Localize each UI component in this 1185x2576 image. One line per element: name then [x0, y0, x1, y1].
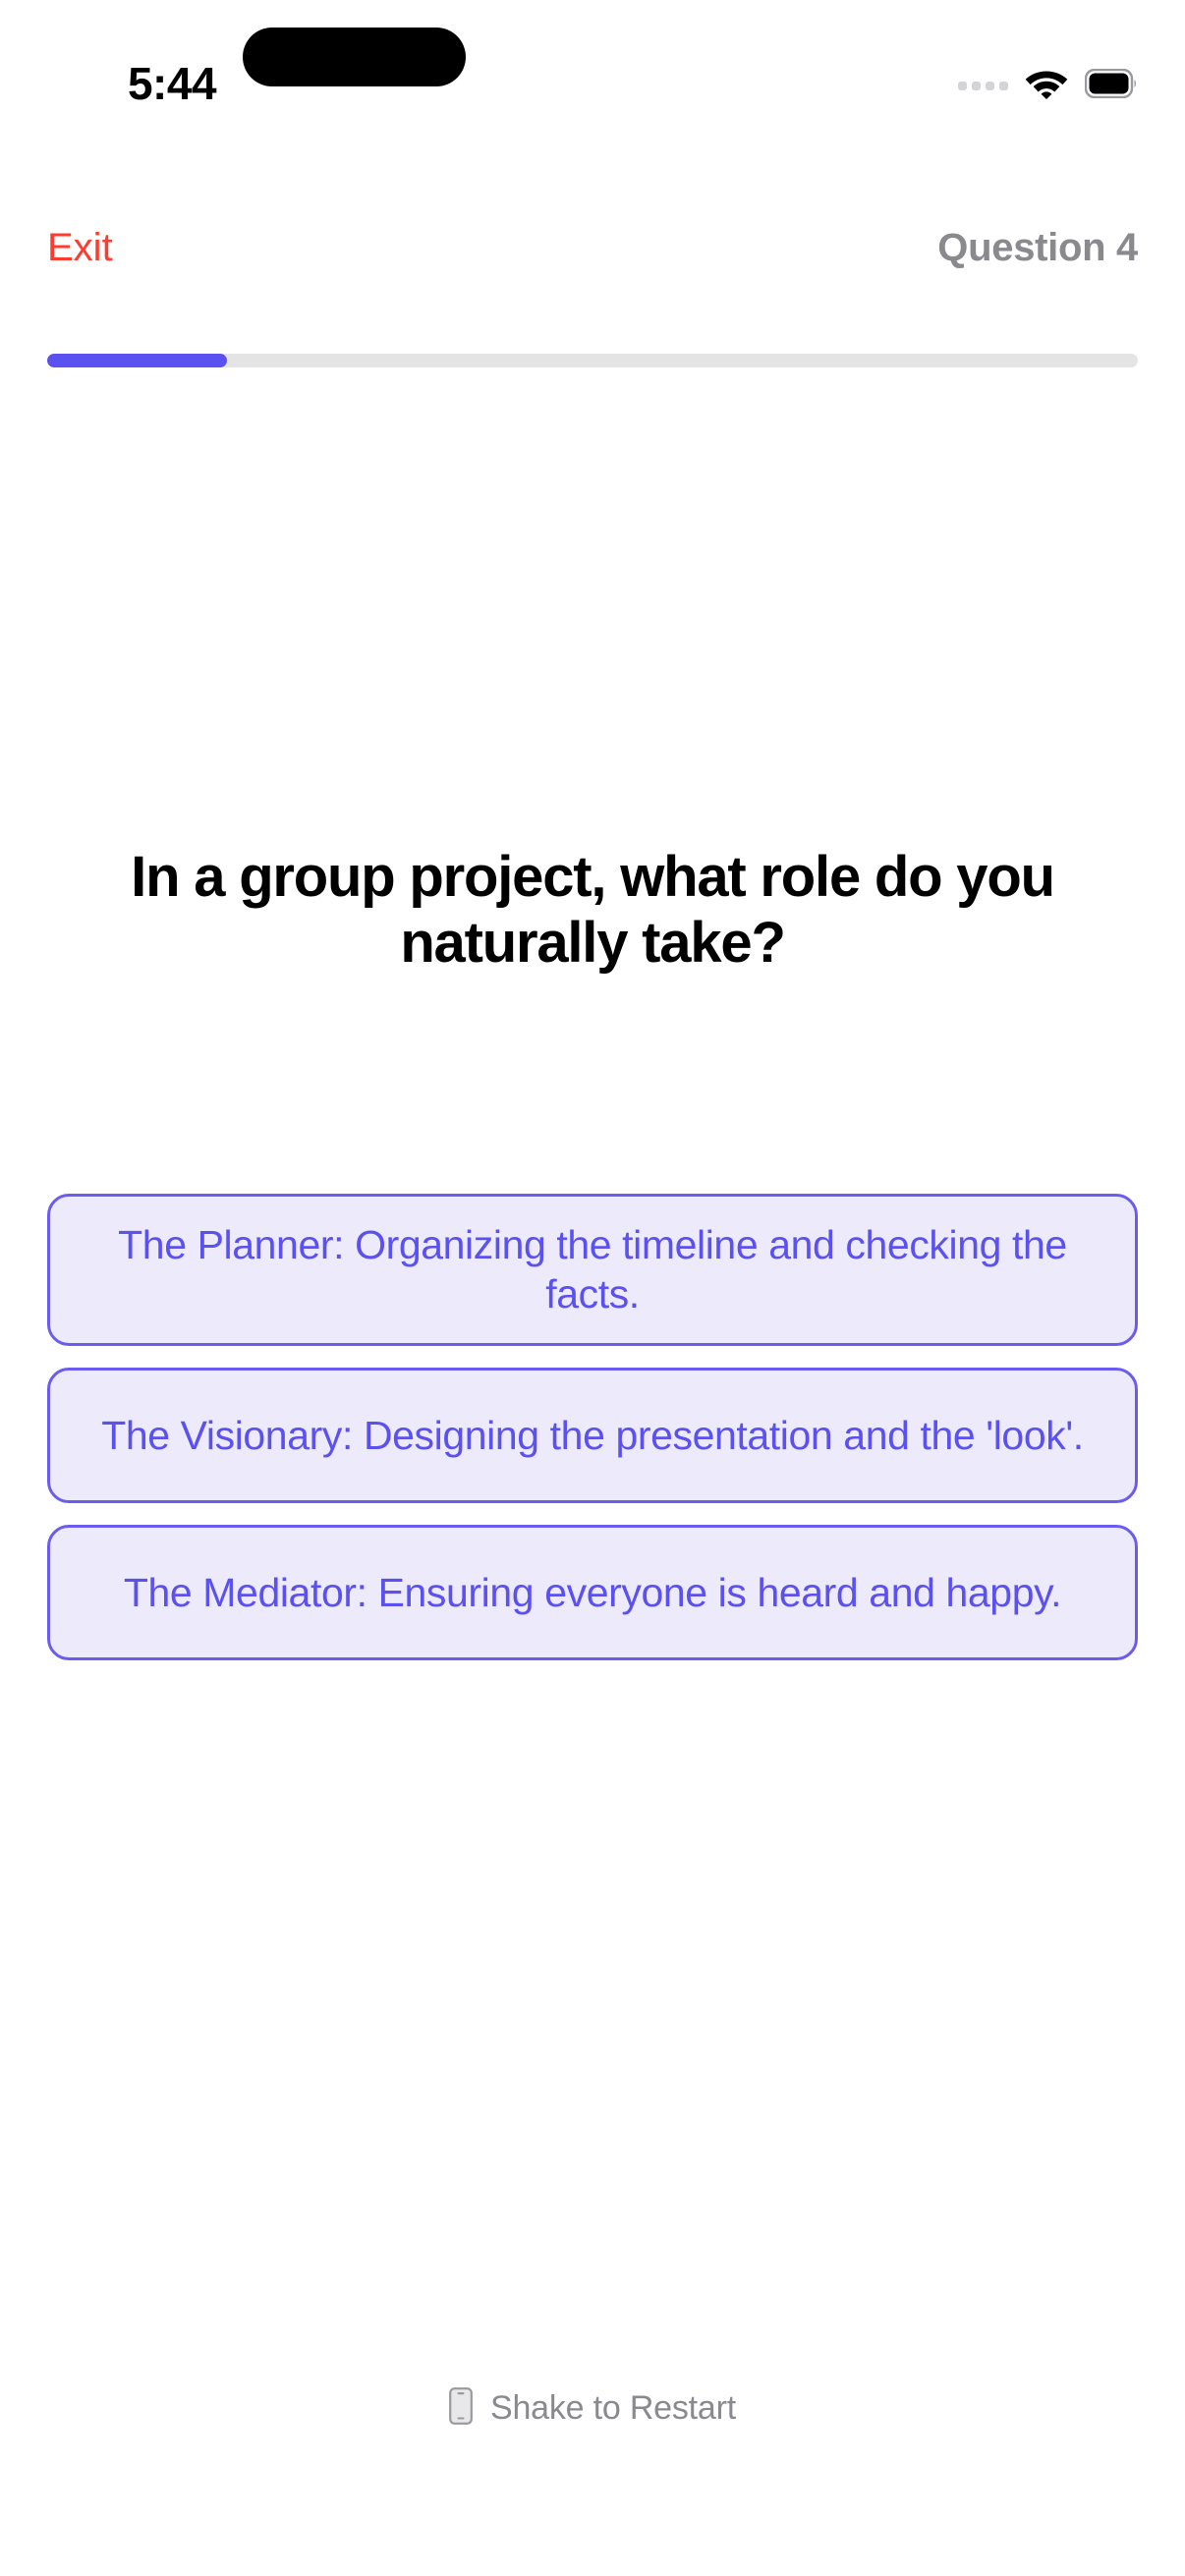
answer-option-3[interactable]: The Mediator: Ensuring everyone is heard…	[47, 1525, 1138, 1660]
quiz-screen: 5:44 Exit	[0, 0, 1185, 2576]
cellular-dots-icon	[958, 82, 1008, 90]
answer-option-label: The Planner: Organizing the timeline and…	[84, 1220, 1101, 1319]
question-counter: Question 4	[937, 228, 1138, 267]
shake-to-restart-hint: Shake to Restart	[0, 2387, 1185, 2430]
question-text: In a group project, what role do you nat…	[59, 845, 1126, 976]
iphone-icon	[449, 2387, 473, 2430]
dynamic-island	[243, 28, 466, 86]
nav-header: Exit Question 4	[47, 218, 1138, 277]
status-bar: 5:44	[0, 0, 1185, 157]
exit-button[interactable]: Exit	[47, 228, 113, 267]
answer-option-label: The Mediator: Ensuring everyone is heard…	[124, 1568, 1061, 1617]
answer-options-list: The Planner: Organizing the timeline and…	[47, 1194, 1138, 1660]
wifi-icon	[1025, 67, 1068, 104]
answer-option-1[interactable]: The Planner: Organizing the timeline and…	[47, 1194, 1138, 1346]
shake-to-restart-label: Shake to Restart	[490, 2389, 736, 2428]
question-block: In a group project, what role do you nat…	[59, 845, 1126, 976]
status-bar-indicators	[958, 67, 1138, 104]
answer-option-label: The Visionary: Designing the presentatio…	[101, 1411, 1084, 1460]
quiz-progress-bar	[47, 354, 1138, 367]
quiz-progress-fill	[47, 354, 227, 367]
battery-full-icon	[1085, 69, 1138, 103]
answer-option-2[interactable]: The Visionary: Designing the presentatio…	[47, 1368, 1138, 1503]
